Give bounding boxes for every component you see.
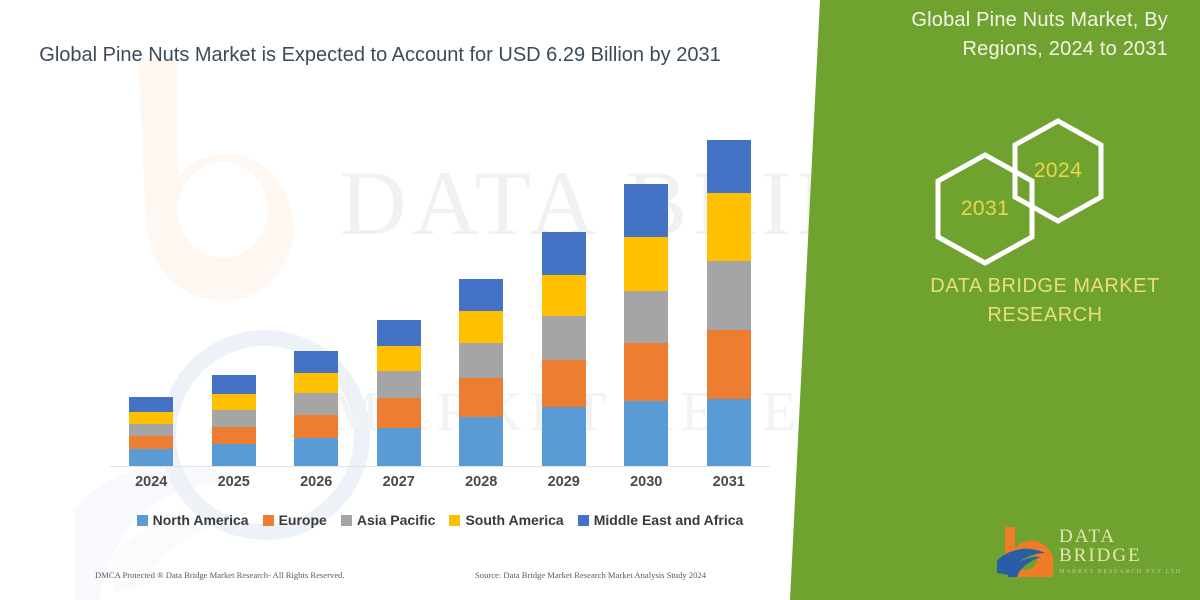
bar-stack (212, 375, 256, 466)
data-bridge-logo: DATA BRIDGE MARKET RESEARCH PVT LTD (995, 520, 1195, 582)
bar-stack (459, 279, 503, 466)
bar-segment (212, 394, 256, 410)
bar-segment (624, 401, 668, 466)
bar-segment (707, 330, 751, 399)
footer-copyright: DMCA Protected ® Data Bridge Market Rese… (95, 570, 445, 580)
bar-segment (624, 343, 668, 401)
x-axis-tick-2025: 2025 (193, 474, 276, 490)
legend-label: Middle East and Africa (594, 512, 744, 528)
x-axis-tick-2029: 2029 (523, 474, 606, 490)
bar-segment (624, 237, 668, 291)
chart-legend: North AmericaEuropeAsia PacificSouth Ame… (110, 512, 770, 528)
bar-segment (707, 140, 751, 193)
footer: DMCA Protected ® Data Bridge Market Rese… (95, 570, 775, 580)
bar-stack (294, 351, 338, 466)
legend-swatch-icon (449, 515, 460, 526)
bar-column (440, 140, 523, 466)
legend-swatch-icon (263, 515, 274, 526)
legend-item[interactable]: Middle East and Africa (578, 512, 744, 528)
bar-segment (459, 417, 503, 466)
bar-column (523, 140, 606, 466)
bar-chart-plot (110, 140, 770, 466)
bar-segment (459, 378, 503, 416)
bar-segment (129, 397, 173, 412)
bar-segment (707, 261, 751, 330)
panel-title: Global Pine Nuts Market, By Regions, 202… (828, 6, 1168, 64)
legend-item[interactable]: Europe (263, 512, 327, 528)
legend-label: North America (153, 512, 249, 528)
bar-segment (707, 399, 751, 466)
bar-segment (707, 193, 751, 261)
bar-segment (129, 449, 173, 466)
bar-column (688, 140, 771, 466)
bar-segment (129, 412, 173, 424)
chart-title: Global Pine Nuts Market is Expected to A… (30, 40, 730, 70)
bar-segment (377, 428, 421, 466)
x-axis-tick-2027: 2027 (358, 474, 441, 490)
data-bridge-logo-mark-icon (995, 525, 1053, 577)
bar-column (358, 140, 441, 466)
bar-stack (707, 140, 751, 466)
bar-segment (542, 232, 586, 274)
hexagon-badge-2024: 2024 (1008, 116, 1108, 226)
legend-label: Asia Pacific (357, 512, 436, 528)
legend-item[interactable]: North America (137, 512, 249, 528)
bar-segment (212, 375, 256, 394)
x-axis-tick-labels: 20242025202620272028202920302031 (110, 474, 770, 490)
logo-title: DATA BRIDGE (1059, 527, 1195, 565)
bar-segment (294, 415, 338, 438)
legend-label: South America (465, 512, 563, 528)
legend-swatch-icon (578, 515, 589, 526)
bar-column (605, 140, 688, 466)
bar-segment (624, 184, 668, 237)
legend-item[interactable]: South America (449, 512, 563, 528)
legend-label: Europe (279, 512, 327, 528)
bar-segment (624, 291, 668, 343)
bar-segment (459, 343, 503, 379)
brand-name: DATA BRIDGE MARKET RESEARCH (900, 272, 1190, 330)
bar-segment (377, 346, 421, 371)
x-axis-tick-2030: 2030 (605, 474, 688, 490)
bar-segment (129, 424, 173, 436)
bar-segment (459, 279, 503, 311)
bar-segment (377, 371, 421, 398)
bar-segment (294, 438, 338, 467)
bar-column (110, 140, 193, 466)
bar-segment (542, 360, 586, 407)
x-axis-tick-2026: 2026 (275, 474, 358, 490)
x-axis-tick-2031: 2031 (688, 474, 771, 490)
logo-subtitle: MARKET RESEARCH PVT LTD (1059, 569, 1195, 575)
bar-segment (129, 436, 173, 449)
infographic-root: DATA BRIDGE MARKET RESEARCH Global Pine … (0, 0, 1200, 600)
legend-item[interactable]: Asia Pacific (341, 512, 436, 528)
bar-column (275, 140, 358, 466)
bar-segment (294, 351, 338, 373)
x-axis-tick-2024: 2024 (110, 474, 193, 490)
bar-stack (624, 184, 668, 466)
bar-segment (542, 316, 586, 360)
bar-segment (212, 410, 256, 427)
footer-source: Source: Data Bridge Market Research Mark… (445, 570, 775, 580)
bar-segment (294, 373, 338, 394)
bar-segment (212, 427, 256, 444)
bar-stack (129, 397, 173, 466)
chart-panel: DATA BRIDGE MARKET RESEARCH Global Pine … (0, 0, 820, 600)
legend-swatch-icon (341, 515, 352, 526)
bar-segment (377, 398, 421, 428)
bar-segment (294, 393, 338, 414)
bar-segment (542, 407, 586, 466)
x-axis-line (110, 466, 770, 467)
hexagon-label-2024: 2024 (1008, 116, 1108, 226)
bar-stack (377, 320, 421, 466)
x-axis-tick-2028: 2028 (440, 474, 523, 490)
bar-stack (542, 232, 586, 466)
bar-segment (212, 444, 256, 466)
bar-segment (377, 320, 421, 346)
logo-b-swoosh-icon (995, 525, 1053, 577)
bar-column (193, 140, 276, 466)
bar-segment (459, 311, 503, 343)
bar-segment (542, 275, 586, 316)
legend-swatch-icon (137, 515, 148, 526)
